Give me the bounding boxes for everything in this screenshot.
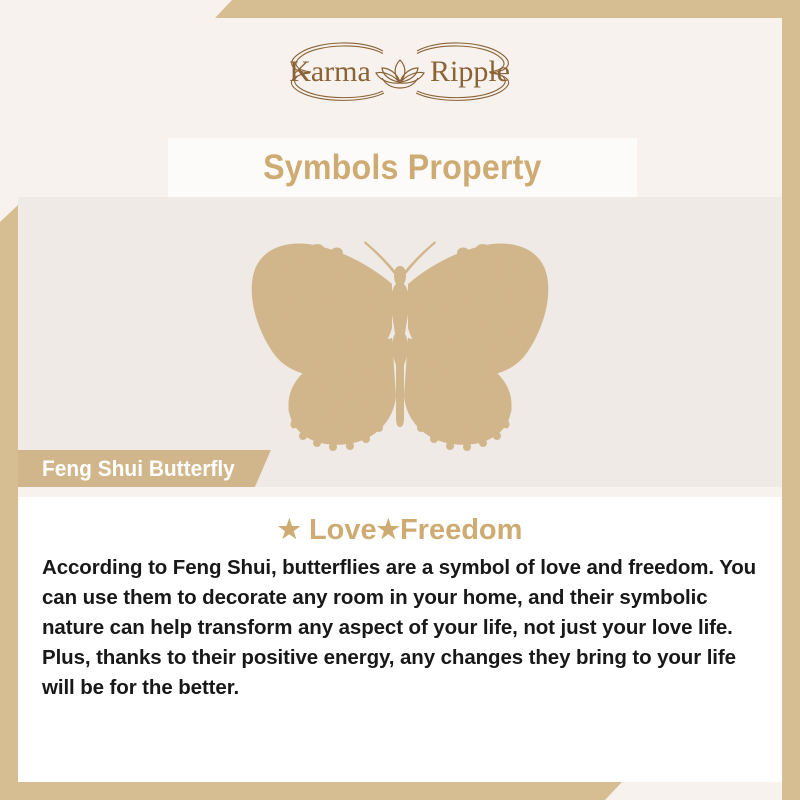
love-freedom-subtitle: ★ Love★Freedom — [30, 515, 770, 545]
star-icon-left: ★ — [278, 514, 301, 544]
subtitle-word-freedom: Freedom — [400, 514, 522, 546]
subtitle-word-love: Love — [309, 514, 377, 546]
feng-shui-butterfly-banner: Feng Shui Butterfly — [18, 450, 271, 487]
frame-band-bottom — [0, 782, 622, 800]
logo-word-right: Ripple — [430, 55, 510, 88]
logo-word-left: Karma — [289, 55, 371, 88]
frame-band-right — [782, 0, 800, 800]
page-title: Symbols Property — [263, 148, 542, 188]
frame-band-left — [0, 205, 18, 800]
poster-card: Karma Ripple Symbols Property — [18, 18, 782, 782]
star-icon-middle: ★ — [377, 514, 400, 544]
frame-band-top — [215, 0, 800, 18]
poster-page: Karma Ripple Symbols Property — [0, 0, 800, 800]
description-panel: ★ Love★Freedom According to Feng Shui, b… — [18, 497, 782, 782]
brand-header: Karma Ripple — [18, 18, 782, 128]
karma-ripple-logo: Karma Ripple — [270, 37, 530, 109]
description-paragraph: According to Feng Shui, butterflies are … — [30, 553, 770, 703]
banner-label: Feng Shui Butterfly — [42, 456, 235, 482]
butterfly-icon — [220, 232, 580, 457]
hero-illustration-area — [18, 197, 782, 487]
section-title-band: Symbols Property — [168, 138, 637, 198]
